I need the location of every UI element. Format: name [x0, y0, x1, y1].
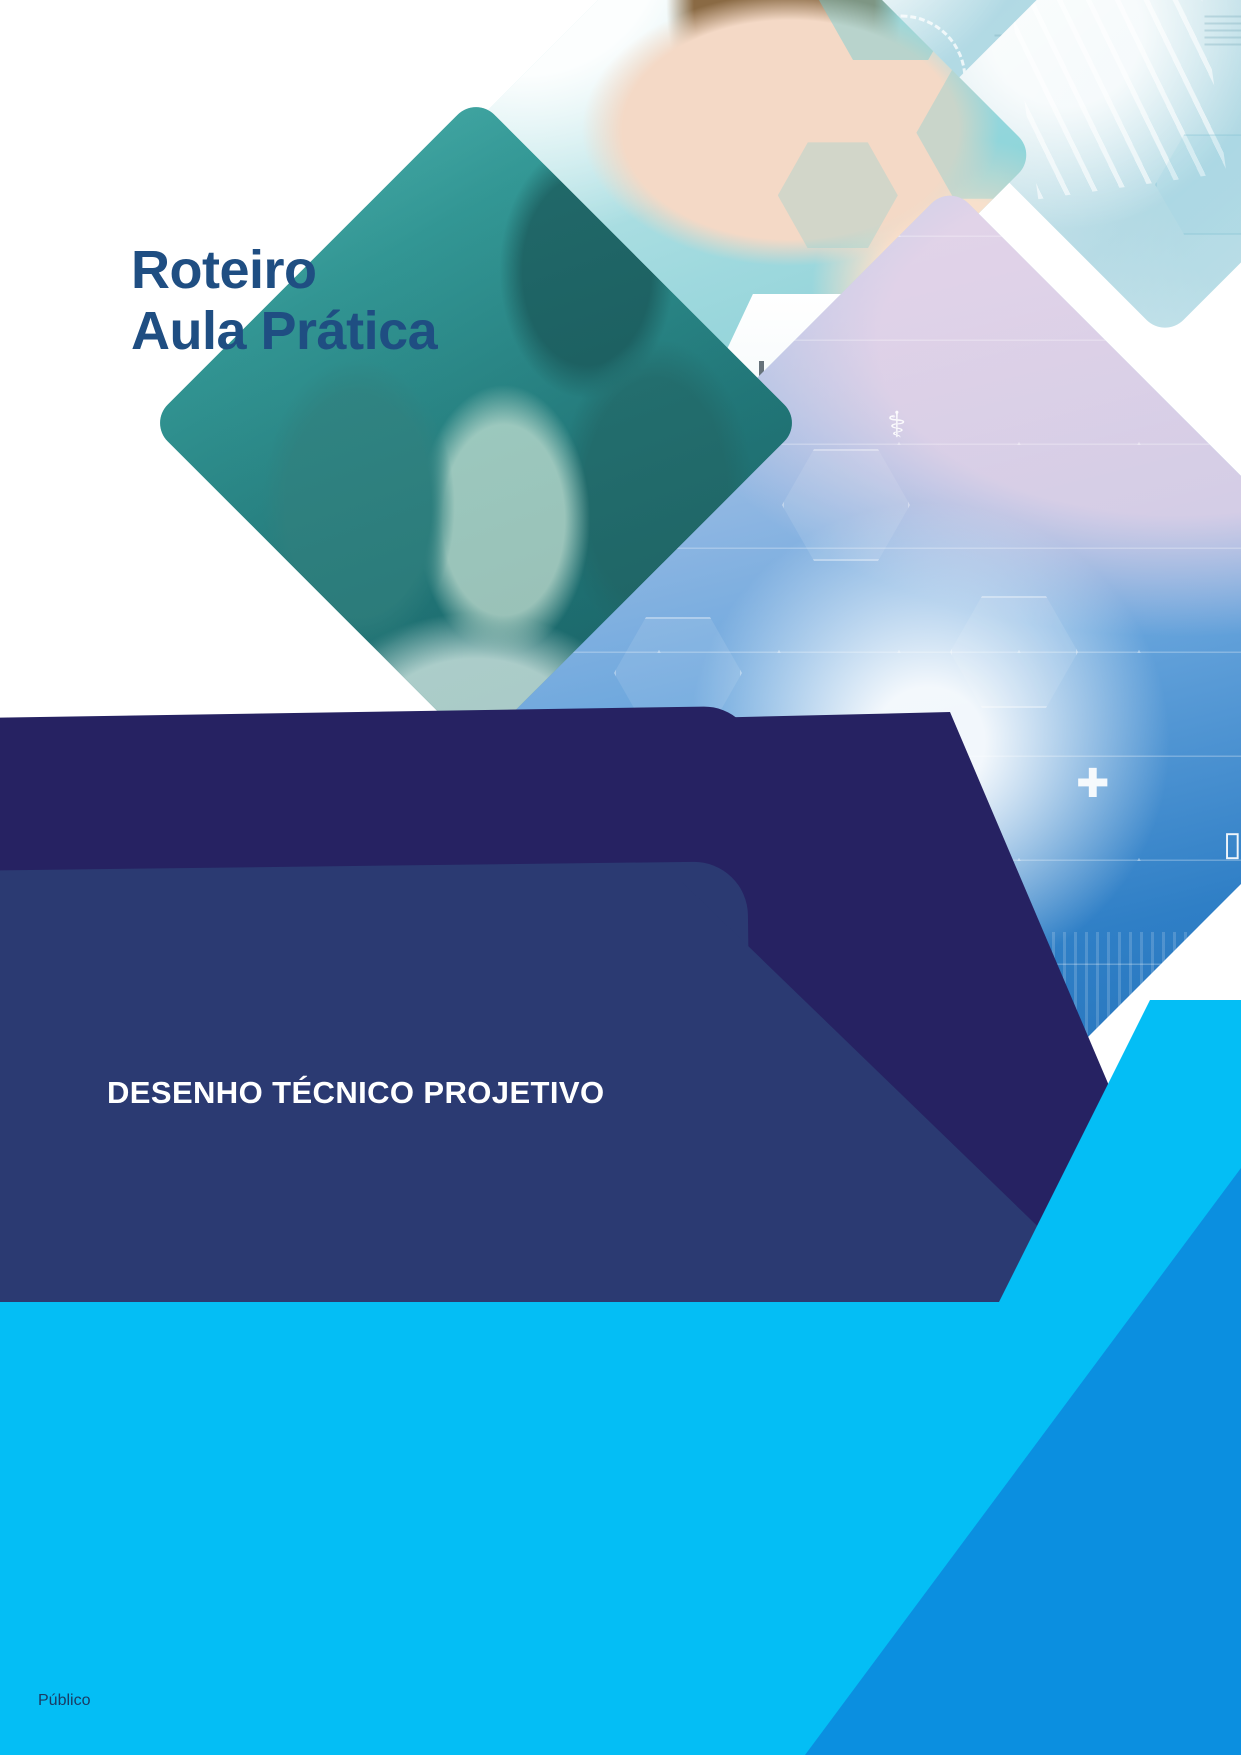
- tech-graphic-image: [492, 0, 959, 68]
- diamond-students-photo: [149, 96, 802, 749]
- diamond-doctor-photo: [443, 0, 1037, 452]
- stethoscope: [759, 361, 817, 452]
- students-image: [149, 96, 802, 749]
- bowl-of-hygieia-icon: ⚕: [887, 407, 906, 443]
- cover-page: ⚕ ▬ ↑ ✚ ▯ Roteiro Aula Prática DESENHO T…: [0, 0, 1241, 1755]
- screen-icon: ▯: [1223, 827, 1241, 861]
- diamond-tech-graphic-center: [702, 0, 1169, 208]
- classification-label: Público: [38, 1692, 90, 1710]
- dna-helix-image: [932, 0, 1241, 338]
- medical-cross-icon: ✚: [1076, 764, 1110, 804]
- course-subtitle: DESENHO TÉCNICO PROJETIVO: [107, 1075, 1007, 1111]
- diamond-tech-graphic-right: [932, 0, 1241, 338]
- diamond-tech-graphic-top: [492, 0, 959, 68]
- doctor-image: [443, 0, 1037, 452]
- page-title: Roteiro Aula Prática: [131, 240, 751, 362]
- tech-graphic-image: [702, 0, 1169, 208]
